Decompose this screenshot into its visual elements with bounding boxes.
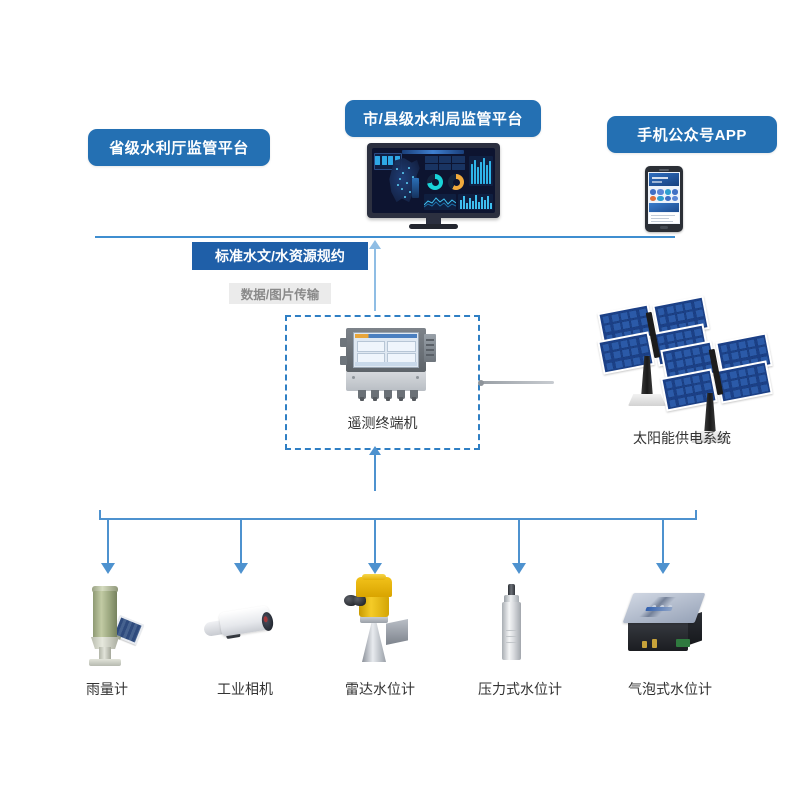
- dashboard-donut-chart-1: [427, 174, 443, 190]
- pressure-probe-icon: [490, 582, 550, 667]
- radar-flange: [360, 616, 388, 623]
- sensor-label-industrial-camera: 工业相机: [185, 679, 305, 699]
- platform-label-city: 市/县级水利局监管平台: [363, 108, 523, 129]
- sensor-uplink-arrow-line: [374, 455, 376, 491]
- rtu-lower-housing: [346, 372, 426, 391]
- uplink-arrow-head: [369, 240, 381, 249]
- dashboard-donut-chart-2: [448, 174, 464, 190]
- bubbler-port-2: [652, 639, 657, 648]
- bubbler-gauge-icon: [622, 585, 712, 660]
- antenna-icon: [482, 381, 554, 384]
- rtu-cable-gland-1: [358, 390, 366, 399]
- sensor-branch-arrow-5: [656, 563, 670, 574]
- sensor-branch-arrow-4: [512, 563, 526, 574]
- radar-mount-bracket: [386, 619, 408, 645]
- solar-panel-icon: [663, 337, 781, 423]
- rtu-connector-block: [424, 334, 436, 362]
- dashboard-number-grid: [425, 156, 465, 170]
- platform-label-app: 手机公众号APP: [637, 124, 747, 145]
- sensor-branch-arrow-1: [101, 563, 115, 574]
- monitor-bezel: [367, 143, 500, 218]
- sensor-bus-right-cap: [695, 510, 697, 520]
- sensor-branch-line-3: [374, 518, 376, 566]
- monitor-foot: [409, 224, 458, 229]
- rtu-device-icon: [340, 328, 440, 400]
- radar-level-gauge-icon: [340, 571, 420, 666]
- phone-home-button: [660, 226, 668, 229]
- app-hero-banner: [649, 173, 679, 186]
- rtu-cable-gland-3: [384, 390, 392, 399]
- monitor-icon: [367, 143, 500, 228]
- rtu-hinge-top: [340, 338, 347, 347]
- sensor-uplink-arrow-head: [369, 446, 381, 455]
- protocol-text: 标准水文/水资源规约: [215, 246, 345, 266]
- sensor-bubbler-level[interactable]: [622, 585, 712, 660]
- app-section-banner: [649, 203, 679, 212]
- rain-gauge-foot: [89, 659, 121, 666]
- rtu-cable-gland-2: [371, 390, 379, 399]
- dashboard-histogram: [458, 194, 493, 210]
- data-transmission-text: 数据/图片传输: [241, 284, 319, 303]
- phone-screen: [648, 172, 680, 224]
- rain-gauge-icon: [75, 583, 165, 669]
- diagram-canvas: 省级水利厅监管平台 市/县级水利局监管平台 手机公众号APP: [0, 0, 800, 800]
- sensor-branch-line-4: [518, 518, 520, 566]
- uplink-bus-line: [95, 236, 675, 238]
- monitor-screen: [372, 148, 495, 213]
- pressure-probe-body: [502, 602, 521, 660]
- protocol-label: 标准水文/水资源规约: [192, 242, 368, 270]
- dashboard-title-bar: [402, 150, 464, 154]
- rtu-display: [353, 332, 419, 368]
- smartphone-icon: [645, 166, 683, 232]
- sensor-bus-left-cap: [99, 510, 101, 520]
- rtu-cable-gland-4: [397, 390, 405, 399]
- rtu-display-cell-2: [387, 341, 416, 352]
- bubbler-terminal-block: [676, 639, 690, 647]
- rain-gauge-cylinder: [93, 591, 117, 639]
- sensor-label-rain-gauge: 雨量计: [47, 679, 167, 699]
- platform-pill-city[interactable]: 市/县级水利局监管平台: [345, 100, 541, 137]
- dashboard-side-chip: [412, 178, 419, 198]
- rtu-display-footer: [355, 362, 417, 366]
- sensor-industrial-camera[interactable]: [200, 595, 290, 655]
- sensor-label-pressure-level: 压力式水位计: [460, 679, 580, 699]
- platform-pill-app[interactable]: 手机公众号APP: [607, 116, 777, 153]
- bubbler-brand-mark: [645, 607, 672, 611]
- sensor-branch-line-1: [107, 518, 109, 566]
- sensor-branch-line-2: [240, 518, 242, 566]
- rtu-label: 遥测终端机: [285, 413, 480, 433]
- data-transmission-label: 数据/图片传输: [229, 283, 331, 304]
- uplink-arrow-line: [374, 249, 376, 311]
- sensor-label-radar-level: 雷达水位计: [320, 679, 440, 699]
- sensor-bus-line: [99, 518, 697, 520]
- sensor-label-bubbler-level: 气泡式水位计: [610, 679, 730, 699]
- rtu-cable-gland-5: [410, 390, 418, 399]
- radar-head-housing: [356, 577, 392, 597]
- sensor-pressure-level[interactable]: [490, 582, 550, 667]
- solar-panel-base: [628, 394, 666, 406]
- camera-icon: [200, 595, 290, 655]
- sensor-branch-line-5: [662, 518, 664, 566]
- dashboard-line-chart: [424, 194, 456, 210]
- platform-label-provincial: 省级水利厅监管平台: [109, 137, 249, 158]
- bubbler-port-1: [642, 641, 647, 648]
- sensor-branch-arrow-2: [234, 563, 248, 574]
- app-icon-grid: [649, 188, 679, 202]
- rtu-hinge-bottom: [340, 356, 347, 365]
- sensor-radar-level[interactable]: [340, 571, 420, 666]
- platform-pill-provincial[interactable]: 省级水利厅监管平台: [88, 129, 270, 166]
- phone-speaker: [659, 169, 669, 171]
- app-list-rows: [649, 213, 679, 223]
- dashboard-bar-panel: [469, 156, 493, 186]
- solar-power-label: 太阳能供电系统: [592, 428, 772, 448]
- rtu-display-header: [355, 334, 417, 338]
- radar-horn-antenna: [362, 622, 386, 662]
- rtu-display-cell-1: [357, 341, 385, 352]
- sensor-rain-gauge[interactable]: [75, 583, 165, 669]
